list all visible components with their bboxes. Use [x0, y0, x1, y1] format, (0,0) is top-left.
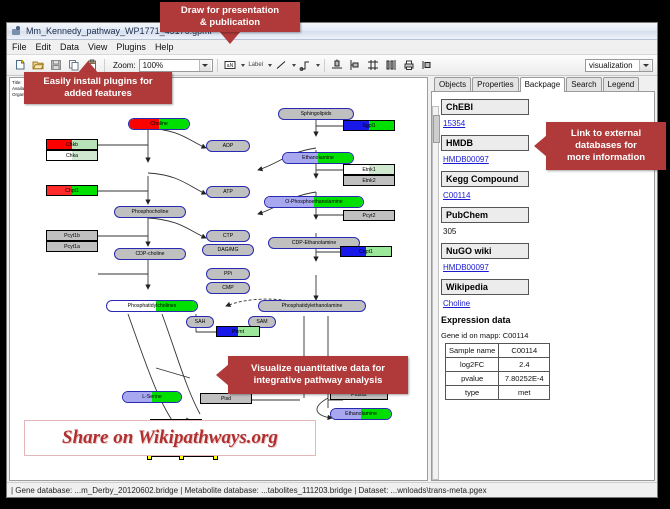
hmdb-header: HMDB: [441, 135, 529, 151]
menu-item-data[interactable]: Data: [60, 42, 79, 52]
gene-node[interactable]: Chkb: [46, 139, 98, 150]
interaction-icon[interactable]: [297, 57, 314, 74]
line-icon[interactable]: [273, 57, 290, 74]
metabolite-node[interactable]: Sphingolipids: [278, 108, 354, 120]
cell-key: Sample name: [446, 344, 499, 358]
menu-item-plugins[interactable]: Plugins: [116, 42, 146, 52]
pubchem-header: PubChem: [441, 207, 529, 223]
wikipedia-header: Wikipedia: [441, 279, 529, 295]
gene-node[interactable]: Chka: [46, 150, 98, 161]
node-label: CDP-Ethanolamine: [292, 240, 336, 246]
metabolite-node[interactable]: Ethanolamine: [330, 408, 392, 420]
side-panel-tabs: Objects Properties Backpage Search Legen…: [431, 77, 655, 92]
nugo-link[interactable]: HMDB00097: [443, 263, 654, 272]
gene-node[interactable]: Pisd: [200, 393, 252, 404]
callout-draw-arrow-icon: [219, 31, 241, 44]
label-dropdown-icon[interactable]: [268, 64, 272, 67]
node-label: Pcyt2: [363, 213, 376, 219]
metabolite-node[interactable]: CTP: [206, 230, 250, 242]
node-label: CTP: [223, 233, 233, 239]
node-label: Cept1: [359, 249, 373, 255]
metabolite-node[interactable]: Phosphatidylethanolamine: [258, 300, 366, 312]
node-label: Phosphocholine: [132, 209, 169, 215]
metabolite-node[interactable]: L-Serine: [122, 391, 182, 403]
menu-item-edit[interactable]: Edit: [36, 42, 52, 52]
menu-item-view[interactable]: View: [88, 42, 107, 52]
menu-item-help[interactable]: Help: [155, 42, 174, 52]
metabolite-node[interactable]: Phosphocholine: [114, 206, 186, 218]
node-label: ATP: [223, 189, 233, 195]
node-label: Pcyt1b: [64, 233, 80, 239]
gene-node[interactable]: Etnk2: [343, 175, 395, 186]
chevron-down-icon[interactable]: [639, 60, 651, 71]
metabolite-node[interactable]: CMP: [206, 282, 250, 294]
menu-bar: File Edit Data View Plugins Help: [7, 40, 657, 55]
chebi-header: ChEBI: [441, 99, 529, 115]
tab-objects[interactable]: Objects: [434, 77, 471, 91]
zoom-combo[interactable]: 100%: [139, 59, 213, 72]
kegg-link[interactable]: C00114: [443, 191, 654, 200]
gene-node[interactable]: Etnk1: [343, 164, 395, 175]
gene-node[interactable]: Pemt: [216, 326, 260, 337]
node-label: Pisd: [221, 396, 231, 402]
status-text: | Gene database: ...m_Derby_20120602.bri…: [11, 486, 487, 495]
table-row: Sample name C00114: [446, 344, 550, 358]
print-icon[interactable]: [401, 57, 418, 74]
callout-links: Link to external databases for more info…: [546, 122, 666, 170]
metabolite-node[interactable]: Phosphatidylcholines: [106, 300, 198, 312]
node-label: Pemt: [232, 329, 244, 335]
metabolite-node[interactable]: Choline: [128, 118, 190, 130]
screenshot-root: Mm_Kennedy_pathway_WP1771_45176.gpml Fil…: [0, 0, 670, 509]
new-file-icon[interactable]: [11, 57, 28, 74]
node-label: SAH: [195, 319, 206, 325]
tab-backpage[interactable]: Backpage: [520, 77, 566, 92]
node-label: PPi: [224, 271, 232, 277]
scrollbar-thumb[interactable]: [433, 115, 440, 143]
align-left-icon[interactable]: [347, 57, 364, 74]
callout-visualize: Visualize quantitative data for integrat…: [228, 356, 408, 394]
share-label: Share on Wikipathways.org: [62, 427, 278, 449]
cell-value: 2.4: [499, 358, 550, 372]
cell-value: C00114: [499, 344, 550, 358]
open-folder-icon[interactable]: [29, 57, 46, 74]
callout-share: Share on Wikipathways.org: [24, 420, 316, 456]
node-label: Sgpl1: [362, 123, 375, 129]
toolbar-separator: [217, 59, 218, 72]
zoom-label: Zoom:: [113, 61, 136, 70]
tab-search[interactable]: Search: [566, 77, 601, 91]
metabolite-node[interactable]: O-Phosphoethanolamine: [264, 196, 364, 208]
nugo-header: NuGO wiki: [441, 243, 529, 259]
metabolite-node[interactable]: SAH: [186, 316, 214, 328]
node-label: Ethanolamine: [345, 411, 377, 417]
node-label: SAM: [256, 319, 267, 325]
metabolite-node[interactable]: PPi: [206, 268, 250, 280]
window-titlebar: Mm_Kennedy_pathway_WP1771_45176.gpml: [7, 23, 657, 40]
metabolite-node[interactable]: DAG/MG: [202, 244, 254, 256]
gene-node[interactable]: Sgpl1: [343, 120, 395, 131]
group-icon[interactable]: [419, 57, 436, 74]
distribute-horizontal-icon[interactable]: [383, 57, 400, 74]
table-row: log2FC 2.4: [446, 358, 550, 372]
callout-draw: Draw for presentation & publication: [160, 2, 300, 32]
table-row: type met: [446, 386, 550, 400]
label-tool[interactable]: Label: [246, 57, 266, 74]
node-label: CMP: [222, 285, 234, 291]
svg-text:aN: aN: [227, 63, 234, 69]
wikipedia-link[interactable]: Choline: [443, 299, 654, 308]
visualization-value: visualization: [589, 61, 633, 70]
node-label: Etnk1: [362, 167, 375, 173]
metabolite-node[interactable]: ATP: [206, 186, 250, 198]
node-label: Ethanolamine: [302, 155, 334, 161]
cell-value: met: [499, 386, 550, 400]
node-label: Choline: [150, 121, 168, 127]
cell-key: log2FC: [446, 358, 499, 372]
datanode-dropdown-icon[interactable]: [241, 64, 245, 67]
kegg-header: Kegg Compound: [441, 171, 529, 187]
zoom-value: 100%: [143, 61, 163, 70]
node-label: Pcyt1a: [64, 244, 80, 250]
tab-legend[interactable]: Legend: [603, 77, 640, 91]
node-label: Chkb: [66, 142, 78, 148]
cell-key: pvalue: [446, 372, 499, 386]
gene-node[interactable]: Chpt1: [46, 185, 98, 196]
status-bar: | Gene database: ...m_Derby_20120602.bri…: [7, 482, 657, 497]
align-top-icon[interactable]: [329, 57, 346, 74]
toolbar-separator: [104, 59, 105, 72]
node-label: ADP: [223, 143, 234, 149]
chevron-down-icon[interactable]: [199, 60, 211, 71]
datanode-icon[interactable]: aN: [222, 57, 239, 74]
save-icon[interactable]: [47, 57, 64, 74]
node-label: O-Phosphoethanolamine: [285, 199, 342, 205]
node-label: Phosphatidylcholines: [128, 303, 177, 309]
callout-plugins: Easily install plugins for added feature…: [24, 72, 172, 104]
gene-node[interactable]: Pcyt2: [343, 210, 395, 221]
expression-table: Sample name C00114 log2FC 2.4 pvalue 7.8…: [445, 343, 550, 400]
interaction-dropdown-icon[interactable]: [316, 64, 320, 67]
node-label: Chka: [66, 153, 78, 159]
node-label: DAG/MG: [217, 247, 238, 253]
node-label: Sphingolipids: [301, 111, 332, 117]
metabolite-node[interactable]: ADP: [206, 140, 250, 152]
gene-node[interactable]: Pcyt1a: [46, 241, 98, 252]
node-label: CDP-choline: [135, 251, 164, 257]
table-row: pvalue 7.80252E-4: [446, 372, 550, 386]
node-label: Etnk2: [362, 178, 375, 184]
metabolite-node[interactable]: Ethanolamine: [282, 152, 354, 164]
gene-node[interactable]: Cept1: [340, 246, 392, 257]
cell-value: 7.80252E-4: [499, 372, 550, 386]
node-label: L-Serine: [142, 394, 162, 400]
gene-id-line: Gene id on mapp: C00114: [441, 331, 654, 340]
gene-node[interactable]: Pcyt1b: [46, 230, 98, 241]
backpage-scrollbar[interactable]: [432, 106, 439, 480]
distribute-vertical-icon[interactable]: [365, 57, 382, 74]
node-label: Chpt1: [65, 188, 79, 194]
app-icon: [11, 26, 22, 37]
visualization-combo[interactable]: visualization: [585, 59, 653, 72]
line-dropdown-icon[interactable]: [292, 64, 296, 67]
tab-properties[interactable]: Properties: [472, 77, 518, 91]
cell-key: type: [446, 386, 499, 400]
expression-data-title: Expression data: [441, 315, 654, 325]
metabolite-node[interactable]: CDP-choline: [114, 248, 186, 260]
node-label: Phosphatidylethanolamine: [282, 303, 343, 309]
pubchem-value: 305: [443, 227, 654, 236]
toolbar-separator: [324, 59, 325, 72]
menu-item-file[interactable]: File: [12, 42, 27, 52]
